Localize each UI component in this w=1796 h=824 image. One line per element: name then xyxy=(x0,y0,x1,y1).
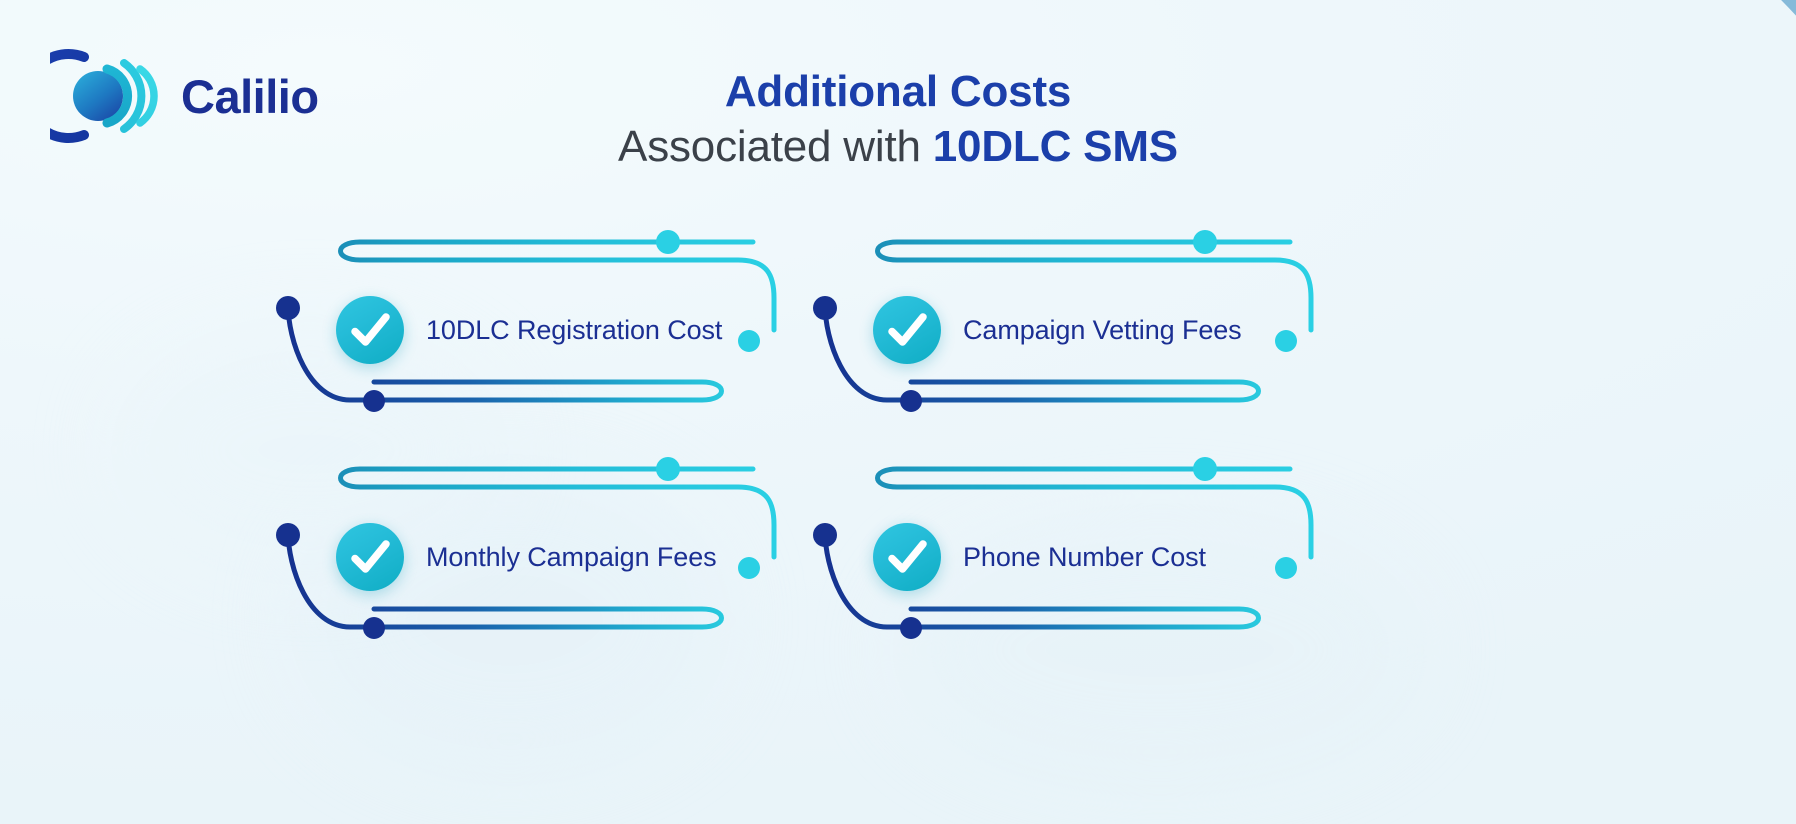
check-circle-icon xyxy=(873,296,941,364)
node-dot-teal-end xyxy=(1275,330,1297,352)
check-circle-icon xyxy=(873,523,941,591)
title-line-2-accent: 10DLC SMS xyxy=(933,122,1178,171)
node-dot-blue-end xyxy=(900,390,922,412)
node-dot-teal xyxy=(1193,230,1217,254)
infographic-canvas: Calilio Additional Costs Associated with… xyxy=(0,0,1796,824)
list-item[interactable]: Phone Number Cost xyxy=(805,449,1365,664)
item-content: Campaign Vetting Fees xyxy=(873,296,1242,364)
cost-items-grid: 10DLC Registration Cost xyxy=(0,222,1796,692)
item-content: 10DLC Registration Cost xyxy=(336,296,722,364)
node-dot-blue xyxy=(813,523,837,547)
node-dot-teal xyxy=(656,230,680,254)
node-dot-blue xyxy=(813,296,837,320)
node-dot-teal-end xyxy=(738,557,760,579)
item-label: Campaign Vetting Fees xyxy=(963,315,1242,346)
node-dot-blue xyxy=(276,296,300,320)
node-dot-blue-end xyxy=(363,617,385,639)
node-dot-teal xyxy=(656,457,680,481)
item-label: Phone Number Cost xyxy=(963,542,1206,573)
title-line-2-prefix: Associated with xyxy=(618,122,933,171)
calilio-signal-logo-icon xyxy=(50,47,163,145)
list-item[interactable]: Campaign Vetting Fees xyxy=(805,222,1365,437)
node-dot-blue-end xyxy=(900,617,922,639)
item-content: Phone Number Cost xyxy=(873,523,1206,591)
check-circle-icon xyxy=(336,296,404,364)
brand-name: Calilio xyxy=(181,73,319,120)
check-circle-icon xyxy=(336,523,404,591)
brand-logo[interactable]: Calilio xyxy=(50,47,319,145)
list-item[interactable]: Monthly Campaign Fees xyxy=(268,449,828,664)
node-dot-teal xyxy=(1193,457,1217,481)
node-dot-blue xyxy=(276,523,300,547)
node-dot-teal-end xyxy=(738,330,760,352)
node-dot-blue-end xyxy=(363,390,385,412)
item-label: 10DLC Registration Cost xyxy=(426,315,722,346)
node-dot-teal-end xyxy=(1275,557,1297,579)
item-content: Monthly Campaign Fees xyxy=(336,523,717,591)
list-item[interactable]: 10DLC Registration Cost xyxy=(268,222,828,437)
item-label: Monthly Campaign Fees xyxy=(426,542,717,573)
